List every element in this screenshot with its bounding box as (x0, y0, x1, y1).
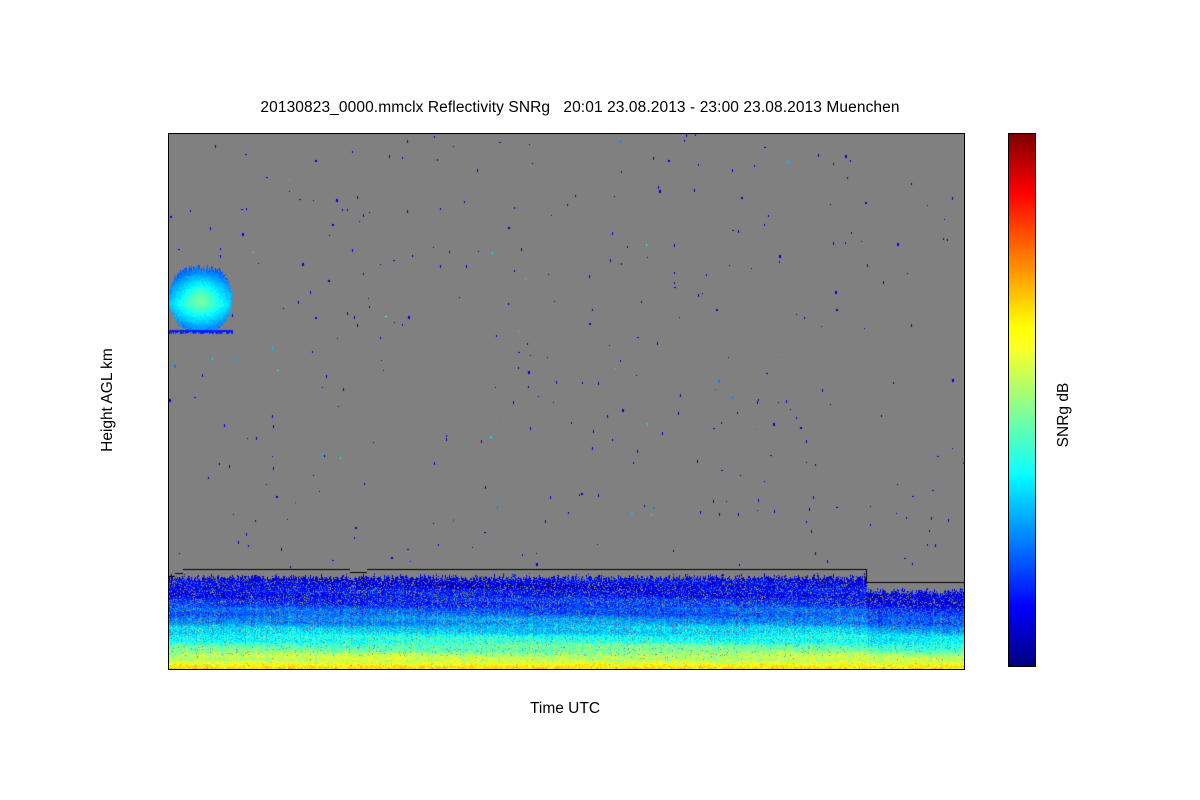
minor-tick (911, 133, 912, 134)
minor-tick (964, 653, 965, 654)
minor-tick (724, 669, 725, 670)
minor-tick (458, 669, 459, 670)
minor-tick (964, 516, 965, 517)
x-axis-title: Time UTC (530, 700, 600, 718)
minor-tick (857, 669, 858, 670)
minor-tick (964, 243, 965, 244)
minor-tick (324, 669, 325, 670)
major-tick (964, 133, 965, 134)
minor-tick (857, 133, 858, 134)
major-tick (298, 669, 299, 670)
major-tick (964, 669, 965, 670)
minor-tick (618, 133, 619, 134)
minor-tick (168, 516, 169, 517)
minor-tick (964, 608, 965, 609)
major-tick (168, 494, 169, 495)
minor-tick (538, 133, 539, 134)
minor-tick (218, 133, 219, 134)
major-tick (168, 312, 169, 313)
minor-tick (168, 448, 169, 449)
minor-tick (168, 289, 169, 290)
major-tick (831, 133, 832, 134)
minor-tick (671, 133, 672, 134)
minor-tick (168, 562, 169, 563)
minor-tick (245, 133, 246, 134)
minor-tick (511, 669, 512, 670)
major-tick (564, 133, 565, 134)
minor-tick (884, 133, 885, 134)
major-tick (168, 221, 169, 222)
major-tick (964, 312, 965, 313)
minor-tick (458, 133, 459, 134)
major-tick (168, 403, 169, 404)
page-title: 20130823_0000.mmclx Reflectivity SNRg 20… (0, 99, 1160, 117)
minor-tick (168, 380, 169, 381)
minor-tick (644, 133, 645, 134)
minor-tick (245, 669, 246, 670)
minor-tick (511, 133, 512, 134)
minor-tick (351, 669, 352, 670)
major-colorbar-tick (1035, 327, 1036, 328)
major-colorbar-tick (1035, 424, 1036, 425)
major-tick (964, 403, 965, 404)
minor-tick (404, 133, 405, 134)
minor-tick (618, 669, 619, 670)
minor-tick (351, 133, 352, 134)
colorbar-gradient (1009, 134, 1035, 666)
minor-tick (964, 175, 965, 176)
minor-tick (751, 669, 752, 670)
major-tick (564, 669, 565, 670)
minor-tick (964, 539, 965, 540)
minor-tick (168, 653, 169, 654)
major-tick (698, 669, 699, 670)
minor-tick (191, 669, 192, 670)
minor-tick (644, 669, 645, 670)
major-colorbar-tick (1035, 134, 1036, 135)
minor-tick (804, 133, 805, 134)
major-colorbar-tick (1035, 231, 1036, 232)
major-colorbar-tick (1035, 521, 1036, 522)
heatmap-plot-area: 24681020:3021:0021:3022:0022:3023:00 (168, 133, 965, 670)
minor-tick (964, 334, 965, 335)
minor-tick (964, 562, 965, 563)
minor-tick (937, 133, 938, 134)
minor-tick (484, 669, 485, 670)
major-tick (964, 585, 965, 586)
minor-colorbar-tick (1035, 182, 1036, 183)
minor-colorbar-tick (1035, 666, 1036, 667)
y-axis-title: Height AGL km (99, 348, 117, 452)
minor-tick (271, 669, 272, 670)
minor-tick (271, 133, 272, 134)
minor-tick (484, 133, 485, 134)
minor-tick (591, 133, 592, 134)
minor-tick (168, 630, 169, 631)
minor-tick (324, 133, 325, 134)
minor-tick (964, 448, 965, 449)
figure-canvas: 20130823_0000.mmclx Reflectivity SNRg 20… (0, 0, 1200, 800)
minor-tick (964, 152, 965, 153)
minor-tick (168, 608, 169, 609)
minor-tick (378, 669, 379, 670)
minor-tick (964, 630, 965, 631)
minor-tick (964, 425, 965, 426)
minor-tick (964, 380, 965, 381)
minor-colorbar-tick (1035, 376, 1036, 377)
minor-colorbar-tick (1035, 569, 1036, 570)
minor-tick (168, 425, 169, 426)
minor-tick (168, 357, 169, 358)
minor-tick (218, 669, 219, 670)
colorbar: -20020406080 (1008, 133, 1036, 667)
minor-tick (538, 669, 539, 670)
minor-tick (964, 357, 965, 358)
minor-tick (964, 198, 965, 199)
minor-tick (591, 669, 592, 670)
reflectivity-heatmap (169, 134, 964, 669)
minor-tick (777, 133, 778, 134)
minor-tick (964, 289, 965, 290)
colorbar-title: SNRg dB (1055, 383, 1073, 448)
minor-tick (724, 133, 725, 134)
minor-tick (168, 198, 169, 199)
minor-tick (168, 471, 169, 472)
major-tick (964, 494, 965, 495)
major-tick (831, 669, 832, 670)
major-tick (431, 133, 432, 134)
minor-tick (378, 133, 379, 134)
major-tick (168, 585, 169, 586)
minor-tick (804, 669, 805, 670)
minor-tick (404, 669, 405, 670)
minor-tick (168, 266, 169, 267)
minor-tick (168, 152, 169, 153)
major-colorbar-tick (1035, 618, 1036, 619)
minor-tick (191, 133, 192, 134)
minor-tick (168, 175, 169, 176)
minor-tick (168, 334, 169, 335)
minor-colorbar-tick (1035, 279, 1036, 280)
minor-tick (751, 133, 752, 134)
minor-colorbar-tick (1035, 473, 1036, 474)
major-tick (698, 133, 699, 134)
minor-tick (168, 243, 169, 244)
minor-tick (884, 669, 885, 670)
major-tick (298, 133, 299, 134)
major-tick (964, 221, 965, 222)
minor-tick (777, 669, 778, 670)
minor-tick (168, 539, 169, 540)
minor-tick (671, 669, 672, 670)
minor-tick (937, 669, 938, 670)
minor-tick (911, 669, 912, 670)
minor-tick (964, 471, 965, 472)
major-tick (431, 669, 432, 670)
minor-tick (964, 266, 965, 267)
